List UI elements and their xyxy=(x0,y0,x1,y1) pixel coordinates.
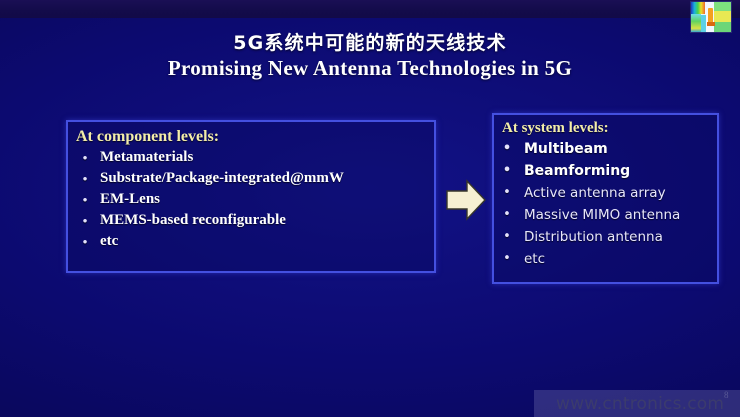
list-item-label: etc xyxy=(100,231,118,252)
list-item-label: Metamaterials xyxy=(100,147,193,168)
list-item-label: etc xyxy=(524,248,545,270)
list-item-label: Beamforming xyxy=(524,160,630,182)
bullet-icon: • xyxy=(502,226,512,248)
list-item: •Massive MIMO antenna xyxy=(502,204,717,226)
list-item-label: Massive MIMO antenna xyxy=(524,204,680,226)
slide-title-english: Promising New Antenna Technologies in 5G xyxy=(0,56,740,81)
list-item: •Metamaterials xyxy=(80,147,434,168)
bullet-icon: • xyxy=(502,204,512,226)
bullet-icon: • xyxy=(502,182,512,204)
bullet-icon: • xyxy=(80,189,90,210)
list-item-label: Substrate/Package-integrated@mmW xyxy=(100,168,344,189)
right-arrow-icon xyxy=(443,177,489,223)
slide-page-number: 8 xyxy=(724,390,729,400)
panel-component-levels: At component levels: •Metamaterials•Subs… xyxy=(66,120,436,273)
bullet-icon: • xyxy=(80,168,90,189)
panel-right-heading: At system levels: xyxy=(494,115,717,138)
list-item: •Substrate/Package-integrated@mmW xyxy=(80,168,434,189)
list-item: •Active antenna array xyxy=(502,182,717,204)
em-simulation-thumbnail-icon xyxy=(690,1,732,33)
bullet-icon: • xyxy=(80,147,90,168)
thumbnail-graphic xyxy=(691,2,731,32)
bullet-icon: • xyxy=(80,210,90,231)
panel-right-bullet-list: •Multibeam•Beamforming•Active antenna ar… xyxy=(494,138,717,270)
list-item-label: Active antenna array xyxy=(524,182,666,204)
panel-system-levels: At system levels: •Multibeam•Beamforming… xyxy=(492,113,719,284)
header-band xyxy=(0,0,740,18)
list-item: •EM-Lens xyxy=(80,189,434,210)
list-item: •etc xyxy=(80,231,434,252)
bullet-icon: • xyxy=(502,160,512,182)
panel-left-heading: At component levels: xyxy=(68,122,434,147)
bullet-icon: • xyxy=(502,138,512,160)
list-item: •Beamforming xyxy=(502,160,717,182)
list-item-label: Distribution antenna xyxy=(524,226,663,248)
watermark-text: www.cntronics.com xyxy=(556,394,724,414)
list-item: •MEMS-based reconfigurable xyxy=(80,210,434,231)
slide-title-chinese: 5G系统中可能的新的天线技术 xyxy=(0,28,740,55)
list-item: •Distribution antenna xyxy=(502,226,717,248)
panel-left-bullet-list: •Metamaterials•Substrate/Package-integra… xyxy=(68,147,434,252)
bullet-icon: • xyxy=(80,231,90,252)
list-item: •Multibeam xyxy=(502,138,717,160)
list-item-label: Multibeam xyxy=(524,138,608,160)
flow-arrow-container xyxy=(443,177,489,223)
slide-canvas: Advanced Antenna Technologies in 5G Mobi… xyxy=(0,0,740,417)
list-item: •etc xyxy=(502,248,717,270)
bullet-icon: • xyxy=(502,248,512,270)
list-item-label: EM-Lens xyxy=(100,189,160,210)
list-item-label: MEMS-based reconfigurable xyxy=(100,210,286,231)
